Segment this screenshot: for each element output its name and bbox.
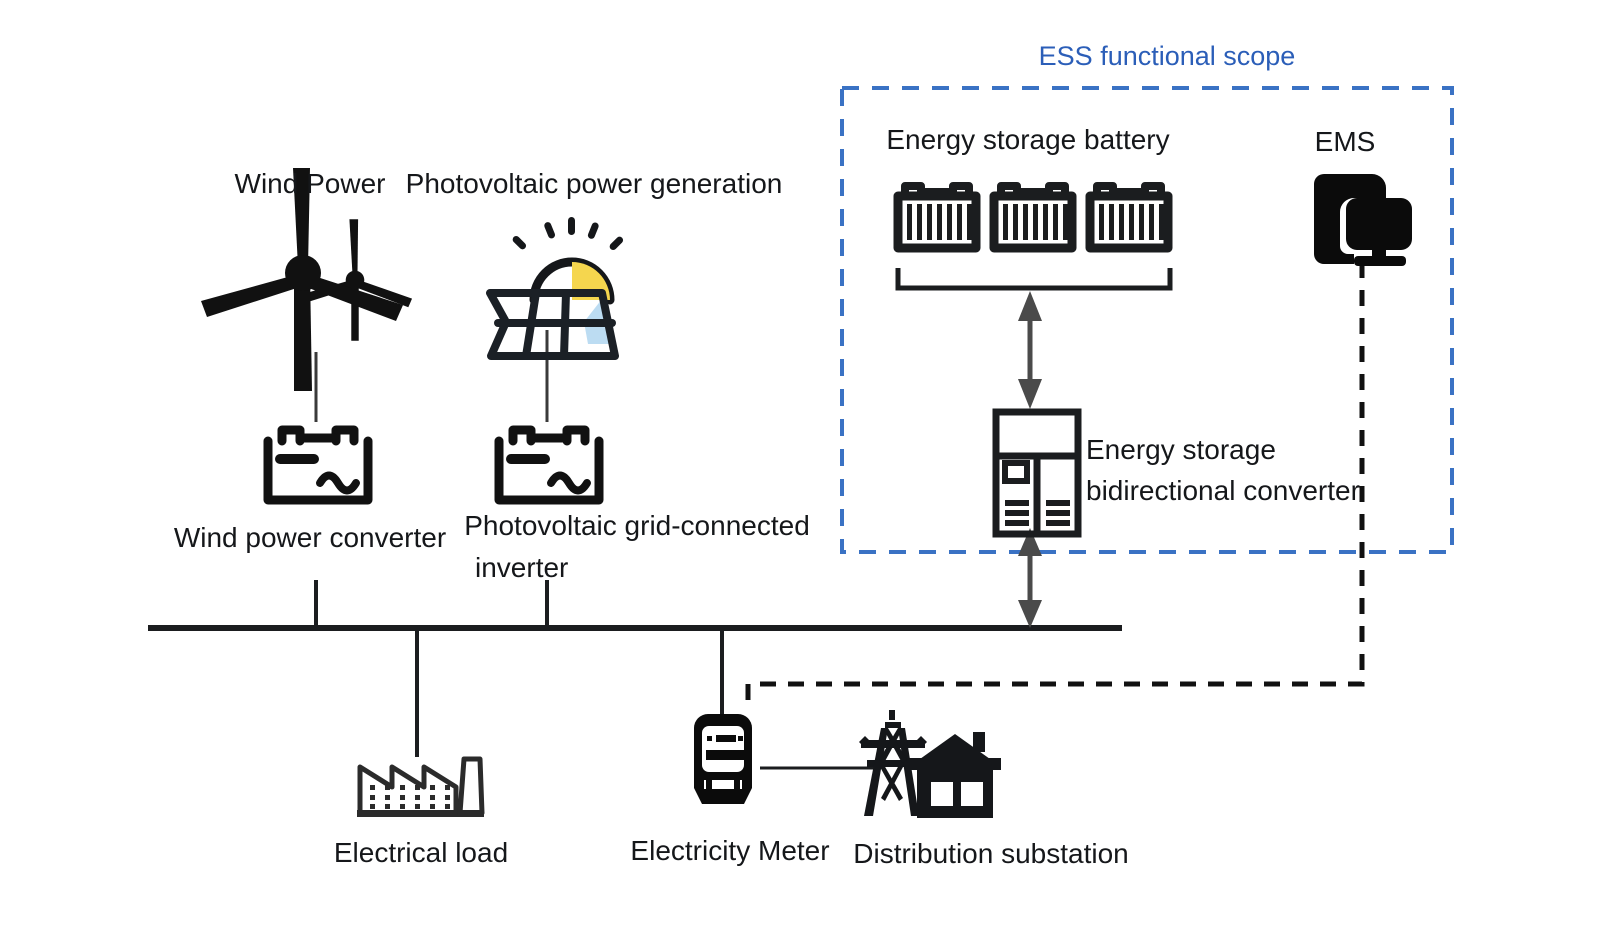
label-ems: EMS <box>1315 124 1376 159</box>
solar-panel-icon <box>490 217 624 362</box>
arrow-battery-converter <box>1018 291 1042 409</box>
label-bidir-converter-line1: Energy storage <box>1086 432 1276 467</box>
factory-icon <box>357 759 484 817</box>
battery-bank-bracket <box>898 268 1170 288</box>
label-energy-storage-battery: Energy storage battery <box>886 122 1169 157</box>
converter-icon-pv <box>499 430 599 500</box>
computer-monitor-icon <box>1314 174 1412 266</box>
label-electrical-load: Electrical load <box>334 835 508 870</box>
label-wind-power: Wind Power <box>235 166 386 201</box>
arrow-converter-bus <box>1018 528 1042 628</box>
converter-icon-wind <box>268 430 368 500</box>
label-bidir-converter-line2: bidirectional converter <box>1086 473 1360 508</box>
ess-scope-title: ESS functional scope <box>1039 41 1296 72</box>
label-pv-generation: Photovoltaic power generation <box>406 166 783 201</box>
pylon-house-icon <box>859 710 1001 818</box>
label-pv-inverter-line1: Photovoltaic grid-connected <box>464 508 810 543</box>
meter-icon <box>694 714 752 804</box>
battery-bank-icon <box>898 186 1168 248</box>
label-pv-inverter-line2: inverter <box>475 550 568 585</box>
label-electricity-meter: Electricity Meter <box>630 833 829 868</box>
label-distribution-substation: Distribution substation <box>853 836 1128 871</box>
cabinet-icon <box>996 412 1078 534</box>
wind-turbine-icon <box>201 168 412 391</box>
label-wind-power-converter: Wind power converter <box>174 520 446 555</box>
